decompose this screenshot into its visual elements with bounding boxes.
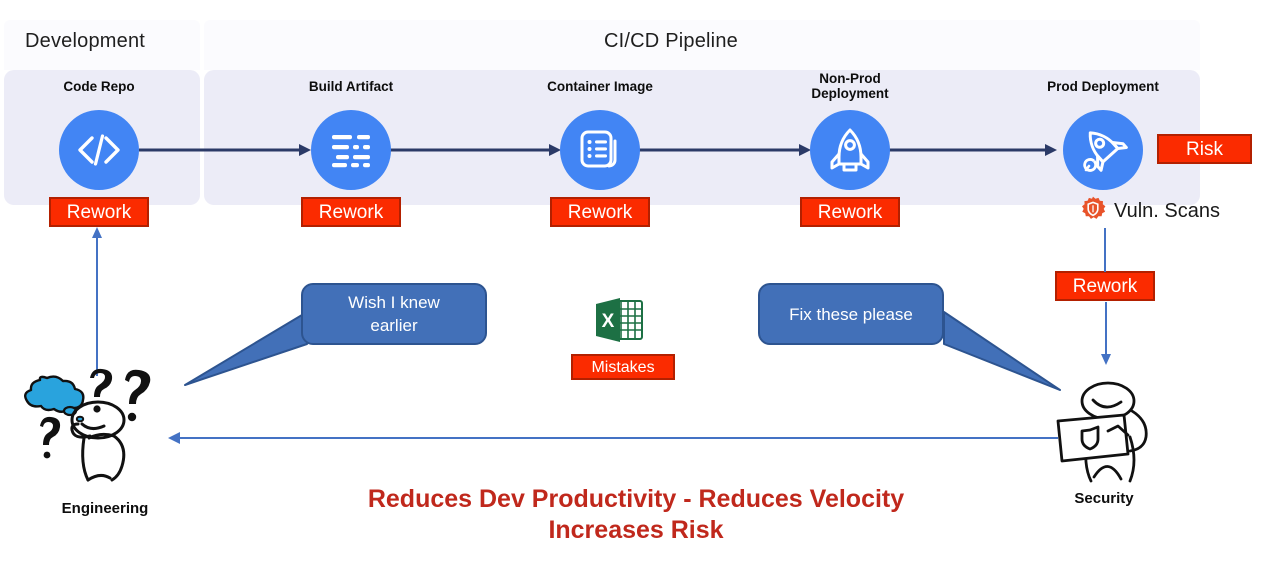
arrow-repo-to-build: [139, 144, 311, 156]
arrow-engineering-to-code-repo: [90, 226, 104, 376]
stage-circle-prod-deployment[interactable]: [1063, 110, 1143, 190]
arrow-rework-to-security: [1100, 302, 1112, 366]
build-lines-icon: [326, 129, 376, 171]
stage-circle-non-prod-deployment[interactable]: [810, 110, 890, 190]
engineering-bubble-tail: [185, 300, 320, 390]
stage-label-build-artifact: Build Artifact: [261, 79, 441, 94]
shield-gear-icon: [1080, 196, 1106, 227]
badge-mistakes[interactable]: Mistakes: [571, 354, 675, 380]
stage-label-prod-deployment: Prod Deployment: [1013, 79, 1193, 94]
code-brackets-icon: [74, 130, 124, 170]
badge-risk[interactable]: Risk: [1157, 134, 1252, 164]
badge-rework-prod[interactable]: Rework: [1055, 271, 1155, 301]
excel-icon: X: [594, 295, 646, 352]
diagram-canvas: Development CI/CD Pipeline Code Repo: [0, 0, 1272, 562]
stage-circle-code-repo[interactable]: [59, 110, 139, 190]
arrow-build-to-container: [389, 144, 561, 156]
vuln-scans-label: Vuln. Scans: [1114, 200, 1220, 223]
security-bubble[interactable]: Fix these please: [758, 283, 944, 345]
vuln-scans-row: Vuln. Scans: [1080, 196, 1220, 227]
badge-rework-build-artifact[interactable]: Rework: [301, 197, 401, 227]
engineering-bubble[interactable]: Wish I knew earlier: [301, 283, 487, 345]
stage-circle-container-image[interactable]: [560, 110, 640, 190]
lane-title-cicd: CI/CD Pipeline: [604, 30, 738, 53]
lane-title-development: Development: [25, 30, 145, 53]
svg-text:X: X: [602, 311, 615, 332]
stage-label-non-prod-deployment: Non-Prod Deployment: [760, 71, 940, 101]
confused-person-icon: [18, 358, 183, 493]
arrow-security-to-engineering: [168, 432, 1058, 444]
stage-label-code-repo: Code Repo: [9, 79, 189, 94]
arrow-container-to-nonprod: [639, 144, 811, 156]
badge-rework-container-image[interactable]: Rework: [550, 197, 650, 227]
bottom-banner: Reduces Dev Productivity - Reduces Veloc…: [0, 484, 1272, 546]
rocket-icon: [827, 126, 873, 174]
badge-rework-non-prod-deployment[interactable]: Rework: [800, 197, 900, 227]
rocket-tilted-icon: [1078, 125, 1128, 175]
stage-circle-build-artifact[interactable]: [311, 110, 391, 190]
arrow-nonprod-to-prod: [889, 144, 1057, 156]
arrow-vuln-to-rework: [1100, 228, 1110, 272]
document-list-icon: [577, 127, 623, 173]
stage-label-container-image: Container Image: [510, 79, 690, 94]
person-with-shield-sign-icon: [1046, 375, 1166, 495]
badge-rework-code-repo[interactable]: Rework: [49, 197, 149, 227]
security-bubble-tail: [930, 300, 1060, 395]
